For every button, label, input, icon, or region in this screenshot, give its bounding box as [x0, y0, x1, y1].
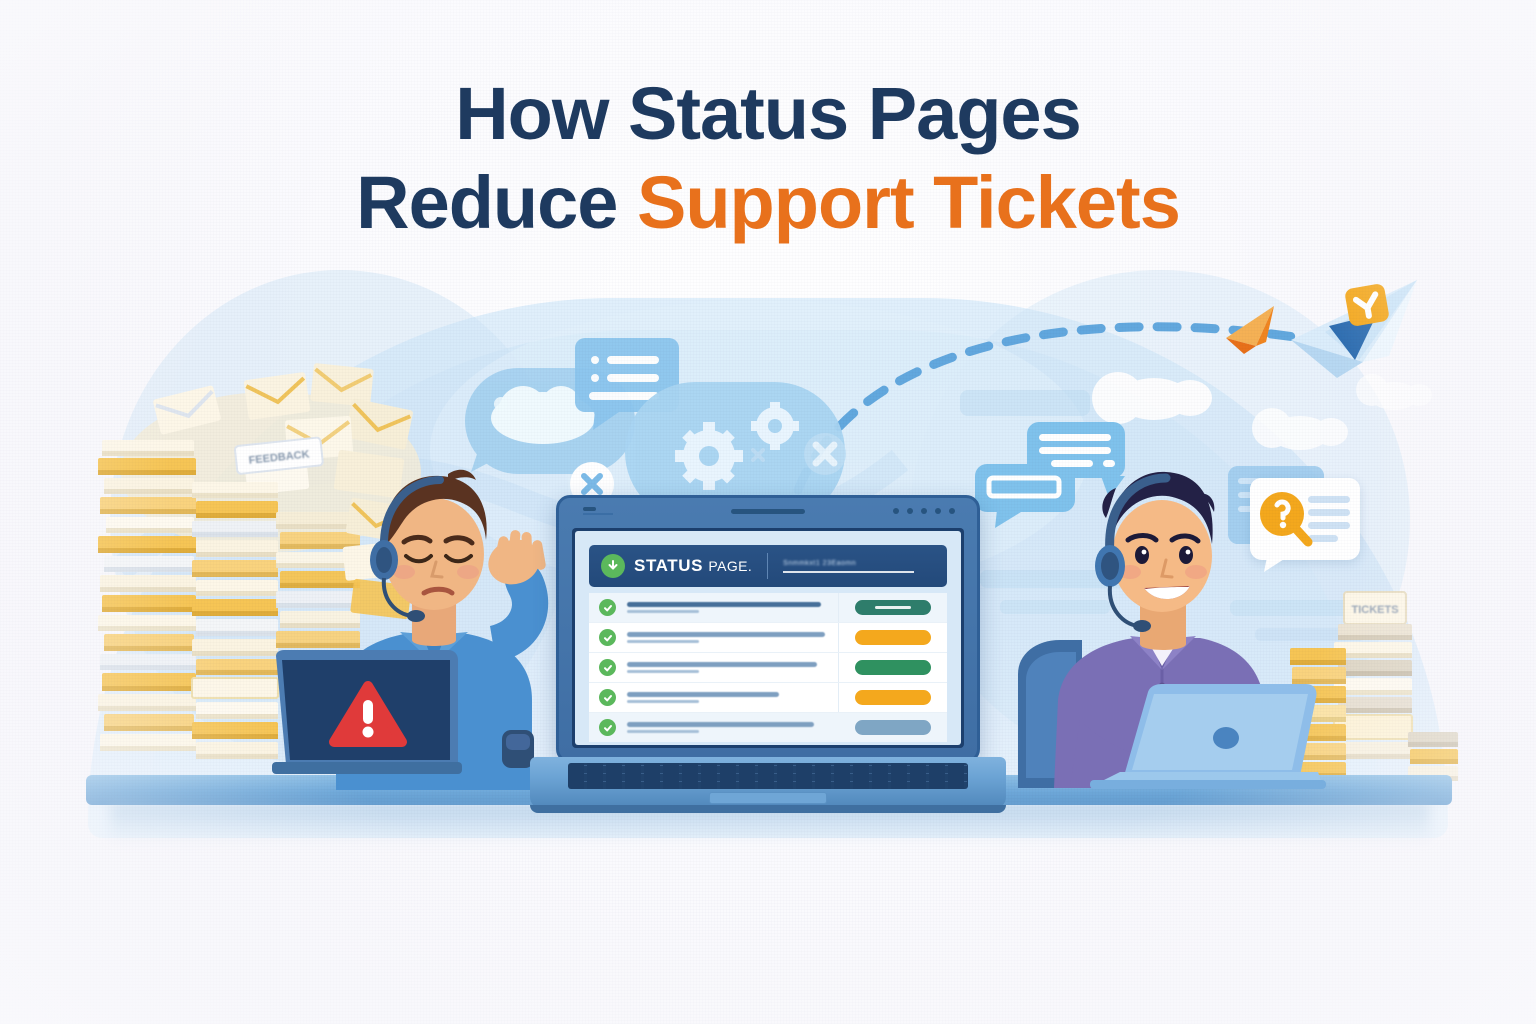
paper-plane-icon [1285, 274, 1425, 389]
status-page-title-strong: STATUS [634, 556, 703, 575]
row-label-placeholder [627, 722, 839, 733]
left-agent-laptop [272, 648, 462, 776]
row-status-cell [838, 623, 947, 652]
row-label-placeholder [627, 662, 838, 673]
title-line-2-part-2: Support Tickets [637, 161, 1180, 244]
laptop-camera-notch [731, 509, 805, 514]
table-row[interactable] [589, 713, 947, 742]
laptop-base [530, 757, 1006, 809]
row-label-placeholder [627, 632, 838, 643]
header-divider [767, 553, 768, 579]
small-orange-plane-icon [1222, 302, 1292, 363]
cloud-icon [1270, 416, 1330, 450]
status-page-rows [589, 593, 947, 739]
laptop-screen: STATUS PAGE. Snmmkxt1 23Eaomn [575, 531, 961, 745]
check-circle-icon [599, 689, 616, 706]
status-badge[interactable] [855, 720, 931, 735]
illustration-canvas: How Status Pages Reduce Support Tickets [0, 0, 1536, 1024]
status-badge[interactable] [855, 600, 931, 615]
row-status-cell [838, 593, 947, 622]
check-circle-icon [599, 629, 616, 646]
x-mark-icon [745, 442, 771, 468]
row-label-placeholder [627, 692, 838, 703]
status-page-title-light: PAGE [708, 558, 747, 574]
laptop-trackpad[interactable] [709, 792, 827, 804]
row-status-cell [838, 683, 947, 712]
laptop-lid: STATUS PAGE. Snmmkxt1 23Eaomn [556, 495, 980, 763]
check-circle-icon [599, 719, 616, 736]
title-line-2-part-1: Reduce [356, 161, 637, 244]
laptop-bezel: STATUS PAGE. Snmmkxt1 23Eaomn [572, 528, 964, 748]
row-label-placeholder [627, 602, 838, 613]
table-row[interactable] [589, 593, 947, 623]
laptop-bezel-dots [893, 508, 955, 514]
status-badge[interactable] [855, 630, 931, 645]
header-meta-text: Snmmkxt1 23Eaomn [783, 560, 935, 567]
row-status-cell [839, 713, 947, 742]
status-badge[interactable] [855, 690, 931, 705]
svg-text:TICKETS: TICKETS [1351, 604, 1398, 616]
check-circle-icon [599, 599, 616, 616]
laptop-brand-mark [583, 507, 617, 514]
table-row[interactable] [589, 623, 947, 653]
plane-badge [1344, 283, 1390, 327]
title-line-2: Reduce Support Tickets [0, 165, 1536, 240]
status-page-header: STATUS PAGE. Snmmkxt1 23Eaomn [589, 545, 947, 587]
header-meta-underline [783, 571, 914, 573]
table-row[interactable] [589, 653, 947, 683]
title-line-1: How Status Pages [0, 76, 1536, 151]
row-status-cell [838, 653, 947, 682]
page-title: How Status Pages Reduce Support Tickets [0, 76, 1536, 241]
status-badge[interactable] [855, 660, 931, 675]
download-circle-icon[interactable] [601, 554, 625, 578]
right-agent-laptop [1076, 680, 1326, 790]
status-page-title-suffix: . [748, 558, 752, 574]
table-row[interactable] [589, 683, 947, 713]
laptop-keyboard[interactable] [568, 763, 968, 789]
check-circle-icon [599, 659, 616, 676]
status-page-title: STATUS PAGE. [634, 556, 752, 576]
cloud-icon [1118, 378, 1190, 420]
status-page-laptop: STATUS PAGE. Snmmkxt1 23Eaomn [556, 495, 980, 815]
laptop-front-edge [530, 805, 1006, 813]
status-page-header-meta: Snmmkxt1 23Eaomn [783, 560, 935, 573]
scene: FEEDBACK [0, 270, 1536, 870]
